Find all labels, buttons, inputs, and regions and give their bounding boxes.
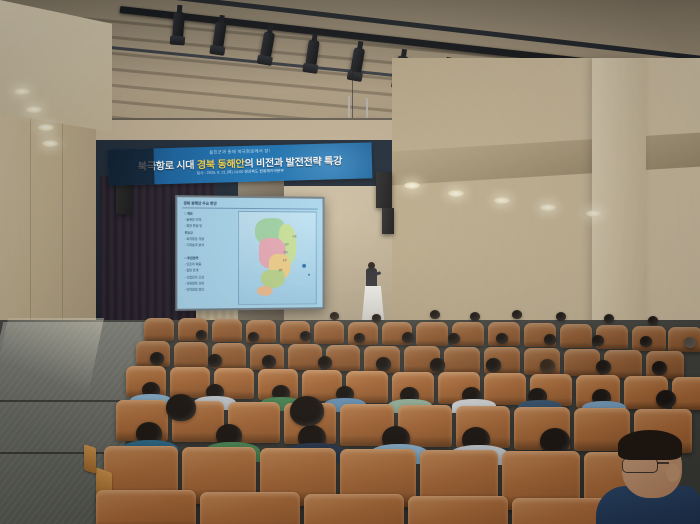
auditorium-seat[interactable] xyxy=(564,349,600,376)
audience-head xyxy=(354,333,365,343)
projector-rod xyxy=(348,96,350,120)
foreground-audience-member xyxy=(596,438,700,524)
auditorium-seat[interactable] xyxy=(408,496,508,524)
seat-armrest xyxy=(84,444,96,474)
slide-surface: 경북 동해안 주요 항만 □ 개요 - 동해안 지역 - 항만 현황 및 물동량… xyxy=(177,197,322,309)
audience-head xyxy=(196,330,207,340)
audience-head xyxy=(470,312,480,321)
audience-head xyxy=(556,312,566,321)
aisle-light-pool xyxy=(0,318,104,394)
slide-bullet: - 동해안 지역 xyxy=(184,218,233,222)
slide-bullet: 물동량 xyxy=(184,230,233,234)
map-marker-dokdo xyxy=(308,274,310,276)
audience-head xyxy=(318,356,332,369)
slide-bullet: - 북극항로 개설 xyxy=(184,237,233,241)
audience-head xyxy=(300,331,311,341)
slide-bullet: - 국제협력 강화 xyxy=(184,281,233,285)
slide-divider xyxy=(182,207,317,209)
audience-head xyxy=(430,358,445,372)
slide-bullet: - 산업단지 조성 xyxy=(184,275,233,279)
auditorium-seat[interactable] xyxy=(560,324,592,348)
audience-head xyxy=(290,396,324,426)
map-marker-ulleungdo xyxy=(302,264,306,268)
audience-head xyxy=(656,390,676,408)
banner-organizer: 경상북도 환동해지역본부 xyxy=(244,169,284,174)
audience-head xyxy=(512,310,522,319)
audience-head xyxy=(640,336,652,347)
auditorium-seat[interactable] xyxy=(170,367,210,398)
auditorium-seat[interactable] xyxy=(672,377,700,410)
banner-title-part2: 의 비전과 발전전략 특강 xyxy=(244,156,342,170)
audience-head xyxy=(684,337,696,348)
downlight xyxy=(14,88,30,95)
auditorium-seat[interactable] xyxy=(512,498,608,524)
downlight xyxy=(448,190,464,197)
banner-occlusion xyxy=(108,148,155,185)
slide-bullet: □ 추진전략 xyxy=(184,256,233,260)
projection-screen: 경북 동해안 주요 항만 □ 개요 - 동해안 지역 - 항만 현황 및 물동량… xyxy=(175,195,324,311)
pa-speaker-right-lower xyxy=(382,208,394,234)
audience-head xyxy=(496,333,508,344)
glasses-icon xyxy=(622,458,658,473)
audience-head xyxy=(604,314,614,323)
auditorium-seat[interactable] xyxy=(326,345,360,371)
audience-head xyxy=(648,316,658,325)
slide-bullet: □ 개요 xyxy=(184,211,233,215)
auditorium-photo: 울진군과 동해 북극항로에서 장! 북극항로 시대 경북 동해안의 비전과 발전… xyxy=(0,0,700,524)
downlight xyxy=(404,182,420,189)
map-label: 울진 xyxy=(285,242,289,246)
slide-title: 경북 동해안 주요 항만 xyxy=(183,201,216,206)
downlight xyxy=(42,140,58,147)
auditorium-seat[interactable] xyxy=(444,347,480,374)
audience-head xyxy=(448,333,460,344)
audience-head xyxy=(150,352,164,365)
slide-bullet: - 인력양성 방안 xyxy=(184,287,233,291)
auditorium-seat[interactable] xyxy=(416,322,448,346)
audience-head xyxy=(372,314,381,322)
audience-head xyxy=(596,360,611,374)
audience-head xyxy=(544,334,556,345)
downlight xyxy=(38,124,54,131)
downlight xyxy=(26,106,42,113)
banner-date: 일시 : 2025. 8. 21 (목) 14:00 xyxy=(197,170,244,175)
audience-head xyxy=(208,354,222,367)
pa-speaker-right xyxy=(376,172,392,208)
auditorium-seat[interactable] xyxy=(304,494,404,524)
map-region xyxy=(257,286,273,296)
slide-bullets-bottom: □ 추진전략 - 인프라 확충 - 항만 연계 - 산업단지 조성 - 국제협력… xyxy=(184,256,233,294)
audience-head xyxy=(592,335,604,346)
slide-bullet: - 기대효과 분석 xyxy=(184,243,233,247)
korea-peninsula-map: 동해 포항 영덕 울진 경주 xyxy=(238,211,317,305)
auditorium-seat[interactable] xyxy=(288,344,322,370)
audience-head xyxy=(652,361,667,375)
slide-bullet: - 항만 연계 xyxy=(184,268,233,272)
audience-head xyxy=(430,310,440,319)
hanging-wire xyxy=(352,60,353,120)
downlight xyxy=(540,204,556,211)
auditorium-seat[interactable] xyxy=(174,342,208,368)
auditorium-seat[interactable] xyxy=(96,490,196,524)
audience-head xyxy=(540,359,555,373)
slide-bullet: - 인프라 확충 xyxy=(184,262,233,266)
projector-rod xyxy=(366,98,368,120)
foreground-ear xyxy=(666,464,680,482)
slide-bullet: - 항만 현황 및 xyxy=(184,224,233,228)
auditorium-seat[interactable] xyxy=(212,319,242,342)
audience-head xyxy=(330,312,339,320)
audience-head xyxy=(486,358,501,372)
audience-head xyxy=(376,357,391,371)
audience-head xyxy=(402,332,414,343)
event-banner: 울진군과 동해 북극항로에서 장! 북극항로 시대 경북 동해안의 비전과 발전… xyxy=(108,142,373,185)
step-edge xyxy=(0,400,120,402)
audience-head xyxy=(248,332,259,342)
stage-light xyxy=(172,12,185,39)
foreground-hair xyxy=(618,430,682,460)
audience-head xyxy=(166,394,196,421)
downlight xyxy=(586,210,602,217)
map-label: 동해 xyxy=(292,234,296,238)
auditorium-seat[interactable] xyxy=(144,318,174,341)
auditorium-seat[interactable] xyxy=(200,492,300,524)
right-column xyxy=(592,58,646,358)
map-label: 영덕 xyxy=(284,250,288,254)
map-label: 경주 xyxy=(279,268,283,272)
banner-subline: 일시 : 2025. 8. 21 (목) 14:00 경상북도 환동해지역본부 xyxy=(197,169,284,176)
audience-head xyxy=(262,355,276,368)
map-label: 포항 xyxy=(283,258,287,262)
downlight xyxy=(494,197,510,204)
slide-bullets-top: □ 개요 - 동해안 지역 - 항만 현황 및 물동량 - 북극항로 개설 - … xyxy=(184,211,233,249)
auditorium-seat[interactable] xyxy=(314,321,344,344)
